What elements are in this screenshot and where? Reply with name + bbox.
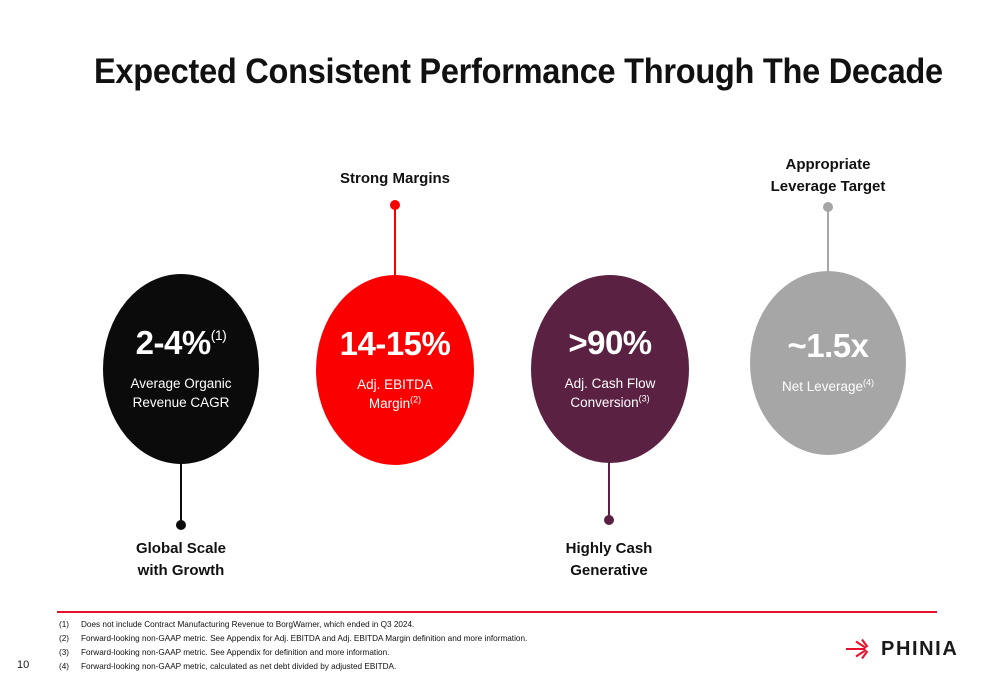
connector-dot-adj-cash-flow-conversion	[604, 515, 614, 525]
footnote-text: Forward-looking non-GAAP metric, calcula…	[81, 660, 396, 674]
metric-bubble-adj-cash-flow-conversion[interactable]: >90% Adj. Cash FlowConversion(3)	[531, 275, 689, 463]
metric-value: 14-15%	[340, 327, 451, 360]
metric-label-footnote-marker: (3)	[639, 393, 650, 403]
metric-value: >90%	[568, 326, 651, 359]
footnote-list: (1) Does not include Contract Manufactur…	[59, 618, 759, 674]
metric-bubble-adj-ebitda-margin[interactable]: 14-15% Adj. EBITDAMargin(2)	[316, 275, 474, 465]
page-number: 10	[17, 659, 29, 671]
footnote-marker: (2)	[59, 632, 81, 646]
metric-label-footnote-marker: (4)	[863, 378, 874, 388]
metric-bubble-net-leverage[interactable]: ~1.5x Net Leverage(4)	[750, 271, 906, 455]
metric-label: Adj. Cash FlowConversion(3)	[565, 375, 656, 411]
arrow-right-icon	[845, 638, 875, 660]
footnote-text: Forward-looking non-GAAP metric. See App…	[81, 646, 389, 660]
metric-value-footnote-marker: (1)	[211, 327, 227, 343]
footnote-marker: (3)	[59, 646, 81, 660]
metric-value: ~1.5x	[788, 329, 869, 362]
connector-line-adj-cash-flow-conversion	[608, 461, 610, 519]
footnote-marker: (1)	[59, 618, 81, 632]
metric-caption-adj-ebitda-margin: Strong Margins	[315, 168, 475, 190]
metric-label: Net Leverage(4)	[782, 378, 874, 396]
brand-logo-text: PHINIA	[881, 639, 958, 659]
footnote-text: Does not include Contract Manufacturing …	[81, 618, 414, 632]
metric-label: Average OrganicRevenue CAGR	[130, 375, 231, 411]
page-title: Expected Consistent Performance Through …	[94, 52, 943, 92]
footnote-marker: (4)	[59, 660, 81, 674]
slide-canvas: Expected Consistent Performance Through …	[0, 0, 1000, 685]
connector-line-adj-ebitda-margin	[394, 205, 396, 277]
metric-caption-organic-revenue-cagr: Global Scalewith Growth	[101, 538, 261, 582]
metric-value: 2-4%(1)	[136, 326, 227, 359]
metric-bubble-organic-revenue-cagr[interactable]: 2-4%(1) Average OrganicRevenue CAGR	[103, 274, 259, 464]
footnote-item: (1) Does not include Contract Manufactur…	[59, 618, 759, 632]
metric-caption-adj-cash-flow-conversion: Highly CashGenerative	[529, 538, 689, 582]
connector-line-organic-revenue-cagr	[180, 462, 182, 524]
metric-caption-net-leverage: AppropriateLeverage Target	[748, 154, 908, 198]
footnote-item: (4) Forward-looking non-GAAP metric, cal…	[59, 660, 759, 674]
footnote-divider	[57, 611, 937, 613]
footnote-item: (3) Forward-looking non-GAAP metric. See…	[59, 646, 759, 660]
metric-label-footnote-marker: (2)	[410, 394, 421, 404]
metric-label: Adj. EBITDAMargin(2)	[357, 376, 433, 412]
footnote-item: (2) Forward-looking non-GAAP metric. See…	[59, 632, 759, 646]
brand-logo: PHINIA	[845, 638, 958, 660]
connector-dot-organic-revenue-cagr	[176, 520, 186, 530]
connector-line-net-leverage	[827, 207, 829, 273]
footnote-text: Forward-looking non-GAAP metric. See App…	[81, 632, 527, 646]
